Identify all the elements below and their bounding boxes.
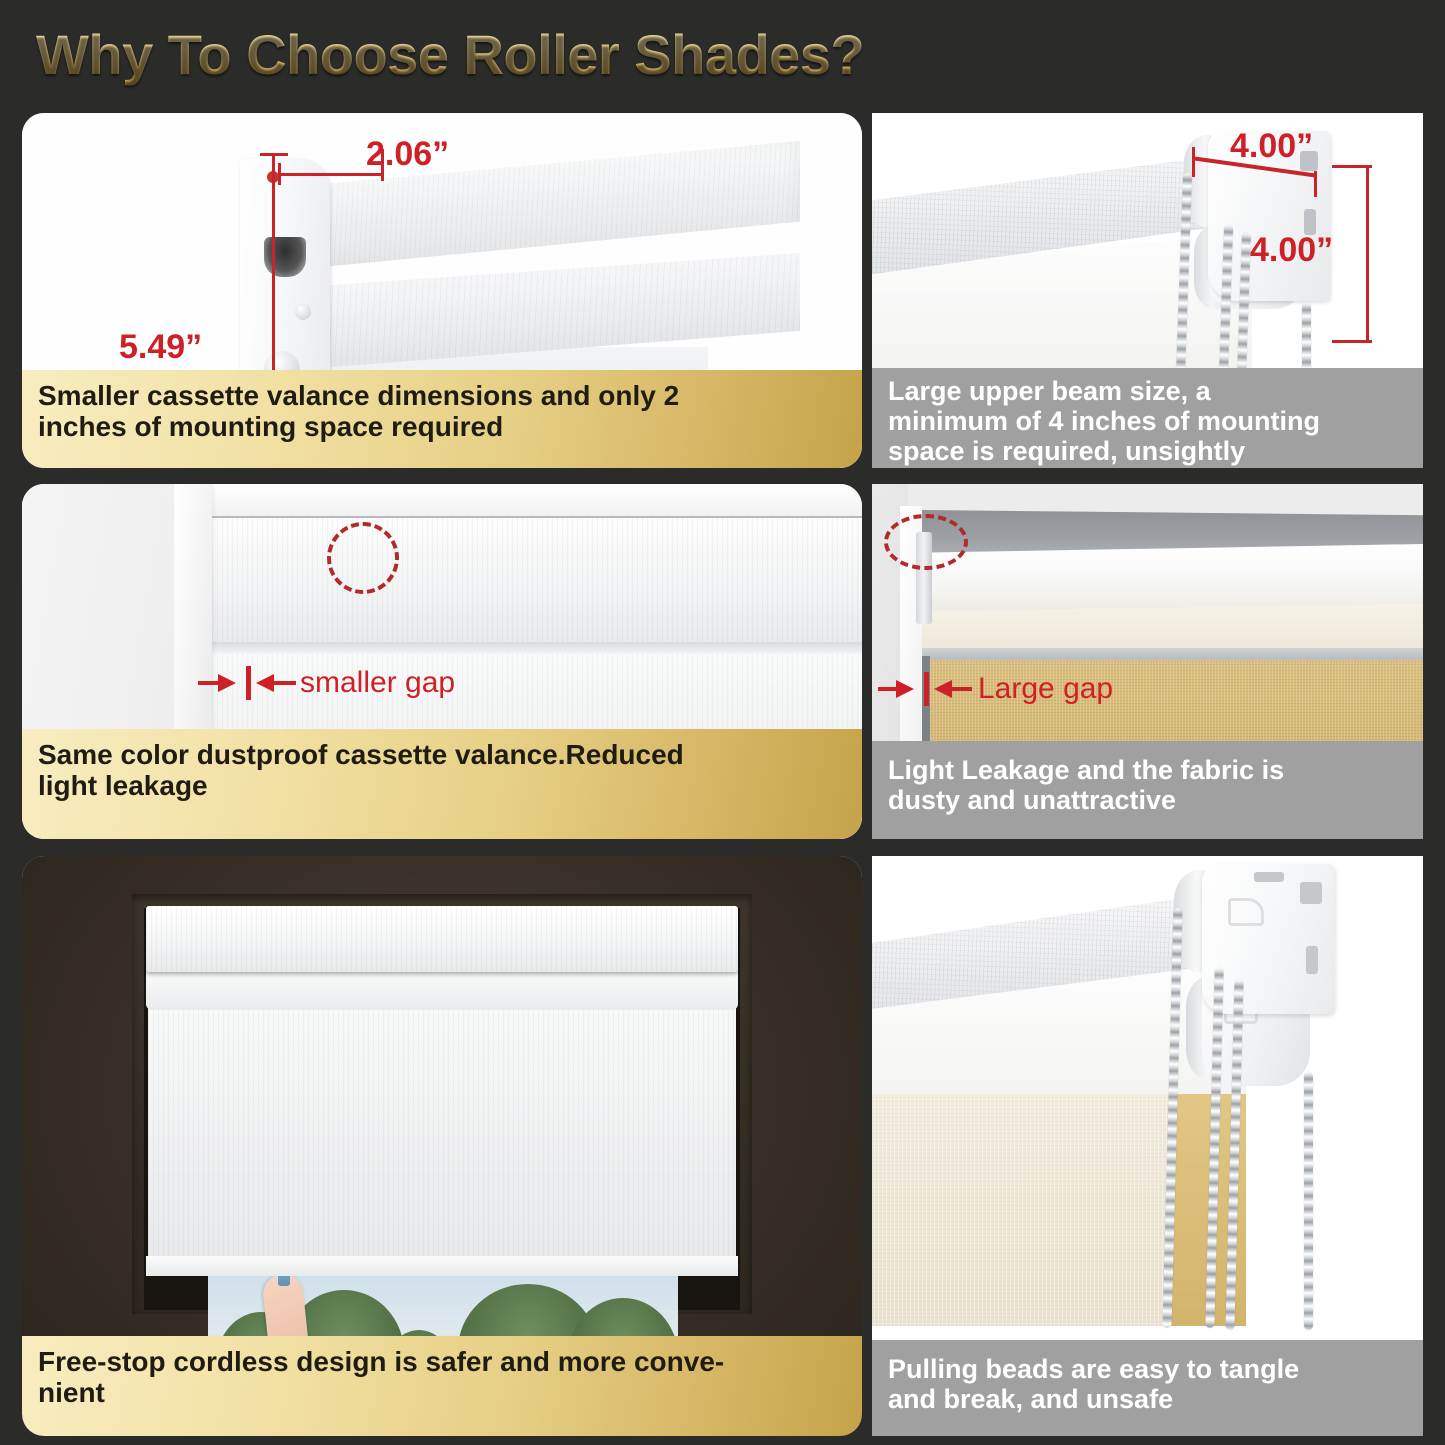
panel-cassette-valance-dimensions: 5.49” 2.06” Smaller cassette valance dim…	[22, 113, 862, 468]
beam-width-label: 4.00”	[1230, 127, 1313, 166]
height-dimension-line	[272, 153, 275, 396]
beam-width-tick-right	[1314, 171, 1317, 197]
header: Why To Choose Roller Shades?	[0, 0, 1445, 108]
gap-arrow-left	[218, 674, 236, 692]
panel-dustproof-cassette-small-gap: smaller gap Same color dustproof cassett…	[22, 484, 862, 839]
gap-label: smaller gap	[300, 666, 455, 700]
highlight-circle	[884, 514, 968, 570]
panel-caption: Free-stop cordless design is safer and m…	[22, 1336, 862, 1436]
panel-caption: Light Leakage and the fabric is dusty an…	[872, 741, 1423, 839]
height-dim-tick-top	[260, 153, 288, 156]
panel-pulling-beads-unsafe: Pulling beads are easy to tangle and bre…	[872, 856, 1423, 1436]
height-dimension-label: 5.49”	[119, 328, 202, 367]
gap-arrow-left	[896, 680, 914, 698]
shade-bottom-bar	[146, 1256, 738, 1276]
bead-chain	[1304, 1072, 1313, 1330]
panel-caption: Same color dustproof cassette valance.Re…	[22, 729, 862, 839]
beam-width-tick-left	[1192, 147, 1195, 177]
width-dim-tick-left	[278, 163, 281, 185]
gap-tick	[924, 672, 929, 706]
highlight-circle	[327, 522, 399, 594]
gap-arrow-right	[256, 674, 274, 692]
valance-end-cap	[240, 159, 330, 387]
page-title: Why To Choose Roller Shades?	[36, 22, 864, 87]
gap-arrow-left-tail	[198, 681, 220, 685]
gap-arrow-right-tail	[274, 681, 296, 685]
cassette-valance	[146, 906, 738, 972]
beam-height-tick-bottom	[1332, 340, 1372, 343]
gap-arrow-left-tail	[878, 687, 898, 691]
roller-shade-fabric	[148, 1008, 736, 1264]
panel-light-leakage-large-gap: Large gap Light Leakage and the fabric i…	[872, 484, 1423, 839]
panel-caption: Large upper beam size, a minimum of 4 in…	[872, 368, 1423, 468]
gap-arrow-right-tail	[952, 687, 972, 691]
beam-height-dimension-line	[1366, 165, 1369, 343]
panel-caption: Pulling beads are easy to tangle and bre…	[872, 1340, 1423, 1436]
panel-free-stop-cordless: Free-stop cordless design is safer and m…	[22, 856, 862, 1436]
gap-label: Large gap	[978, 672, 1113, 706]
panel-large-upper-beam: 4.00” 4.00” Large upper beam size, a min…	[872, 113, 1423, 468]
width-dimension-label: 2.06”	[366, 135, 449, 174]
beam-height-tick-top	[1332, 165, 1372, 168]
gap-tick	[246, 666, 251, 700]
beam-height-label: 4.00”	[1250, 231, 1333, 270]
gap-arrow-right	[934, 680, 952, 698]
panel-caption: Smaller cassette valance dimensions and …	[22, 370, 862, 468]
comparison-grid: 5.49” 2.06” Smaller cassette valance dim…	[0, 108, 1445, 1445]
